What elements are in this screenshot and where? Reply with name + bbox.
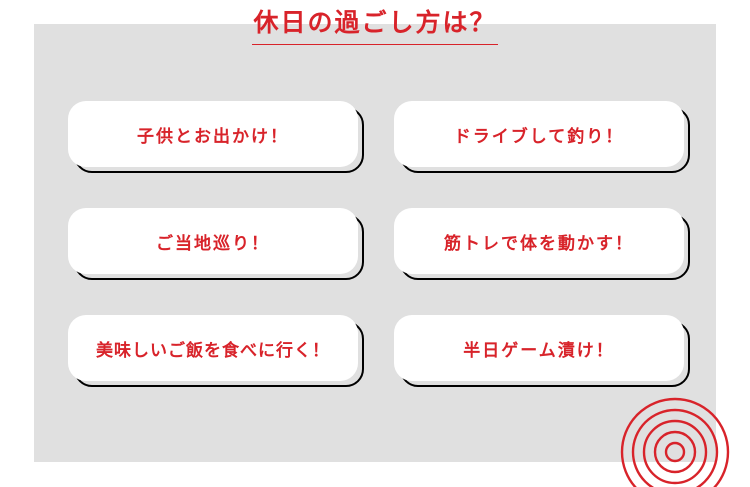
slide-canvas: 休日の過ごし方は？ 子供とお出かけ！ ドライブして釣り！ ご当地巡り！ 筋トレで… (0, 0, 750, 487)
option-card-label: 美味しいご飯を食べに行く！ (60, 315, 366, 381)
page-title: 休日の過ごし方は？ (253, 8, 496, 38)
option-card-3[interactable]: ご当地巡り！ (68, 208, 364, 280)
option-card-5[interactable]: 美味しいご飯を食べに行く！ (68, 315, 364, 387)
option-card-label: 子供とお出かけ！ (68, 101, 358, 167)
option-card-1[interactable]: 子供とお出かけ！ (68, 101, 364, 173)
option-card-label: ドライブして釣り！ (394, 101, 684, 167)
concentric-circles-icon (620, 397, 730, 487)
option-card-6[interactable]: 半日ゲーム漬け！ (394, 315, 690, 387)
option-card-label: ご当地巡り！ (68, 208, 358, 274)
option-card-4[interactable]: 筋トレで体を動かす！ (394, 208, 690, 280)
title-underline (252, 44, 498, 45)
option-card-label: 半日ゲーム漬け！ (394, 315, 684, 381)
title-block: 休日の過ごし方は？ (0, 8, 750, 38)
option-card-label: 筋トレで体を動かす！ (394, 208, 684, 274)
option-card-2[interactable]: ドライブして釣り！ (394, 101, 690, 173)
